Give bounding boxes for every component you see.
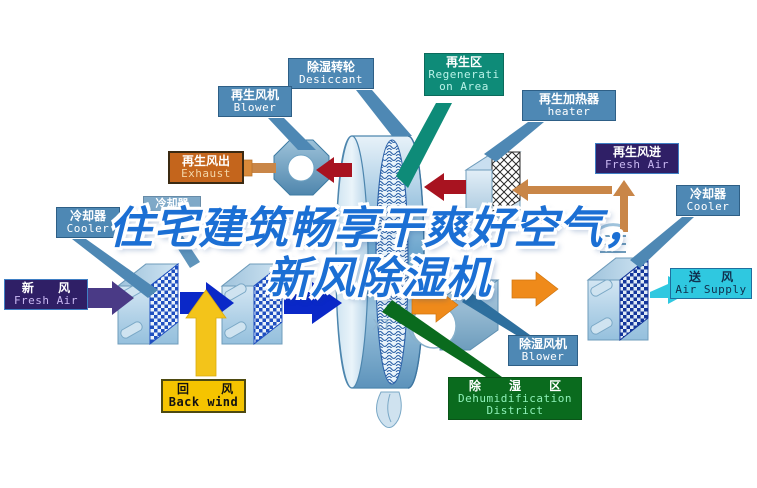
label-regeneration-heater[interactable]: 再生加热器 heater (522, 90, 616, 121)
label-desiccant-rotor[interactable]: 除湿转轮 Desiccant (288, 58, 374, 89)
label-cooler-right-cn: 冷却器 (677, 188, 739, 201)
label-regeneration-fresh-air-in[interactable]: 再生风进 Fresh Air (595, 143, 679, 174)
label-dehumidification-district-en-2: District (449, 405, 581, 417)
label-fresh-air-in-en: Fresh Air (5, 295, 87, 307)
label-back-wind-cn: 回 风 (163, 383, 244, 396)
diagram-artwork: XT (0, 0, 757, 488)
right-cooler-duct-shape (596, 212, 640, 252)
label-regeneration-area-cn: 再生区 (425, 56, 503, 69)
label-cooler-left[interactable]: 冷却器 Cooler (56, 207, 120, 238)
label-regeneration-exhaust-cn: 再生风出 (170, 155, 242, 168)
process-arrow-2-shape (284, 282, 342, 324)
cooler-coil-3-shape (588, 258, 648, 340)
label-cooler-left-cn: 冷却器 (57, 210, 119, 223)
label-regeneration-fresh-air-in-en: Fresh Air (596, 159, 678, 171)
label-cooler-left-en: Cooler (57, 223, 119, 235)
label-regeneration-exhaust-en: Exhaust (170, 168, 242, 180)
label-regeneration-blower-en: Blower (219, 102, 291, 114)
regen-hot-air-arrow-2-shape (424, 173, 466, 201)
label-air-supply-cn: 送 风 (671, 271, 751, 284)
condensate-drain-shape (377, 392, 402, 428)
label-desiccant-rotor-cn: 除湿转轮 (289, 61, 373, 74)
label-cooler-right-en: Cooler (677, 201, 739, 213)
label-dehumidification-blower-cn: 除湿风机 (509, 338, 577, 351)
label-fresh-air-in-cn: 新 风 (5, 282, 87, 295)
label-cooler-right[interactable]: 冷却器 Cooler (676, 185, 740, 216)
label-regeneration-heater-en: heater (523, 106, 615, 118)
diagram-canvas: XT (0, 0, 757, 488)
svg-text:XT: XT (372, 316, 392, 334)
label-dehumidification-blower-en: Blower (509, 351, 577, 363)
label-regeneration-area[interactable]: 再生区 Regenerati on Area (424, 53, 504, 96)
label-back-wind-en: Back wind (163, 396, 244, 409)
label-dehumidification-blower[interactable]: 除湿风机 Blower (508, 335, 578, 366)
label-cooler-left-upper-cn: 冷却器 (144, 198, 200, 210)
label-regeneration-heater-cn: 再生加热器 (523, 93, 615, 106)
dry-air-arrow-2-shape (512, 272, 558, 306)
label-air-supply[interactable]: 送 风 Air Supply (670, 268, 752, 299)
label-desiccant-rotor-en: Desiccant (289, 74, 373, 86)
label-regeneration-blower-cn: 再生风机 (219, 89, 291, 102)
label-dehumidification-district-cn: 除 湿 区 (449, 380, 581, 393)
label-regeneration-exhaust[interactable]: 再生风出 Exhaust (168, 151, 244, 184)
label-fresh-air-in[interactable]: 新 风 Fresh Air (4, 279, 88, 310)
label-air-supply-en: Air Supply (671, 284, 751, 296)
label-regeneration-blower[interactable]: 再生风机 Blower (218, 86, 292, 117)
label-cooler-left-upper[interactable]: 冷却器 (143, 196, 201, 212)
regen-heater-shape (466, 152, 520, 218)
label-regeneration-area-en-2: on Area (425, 81, 503, 93)
label-dehumidification-district[interactable]: 除 湿 区 Dehumidification District (448, 377, 582, 420)
label-back-wind[interactable]: 回 风 Back wind (161, 379, 246, 413)
label-regeneration-fresh-air-in-cn: 再生风进 (596, 146, 678, 159)
